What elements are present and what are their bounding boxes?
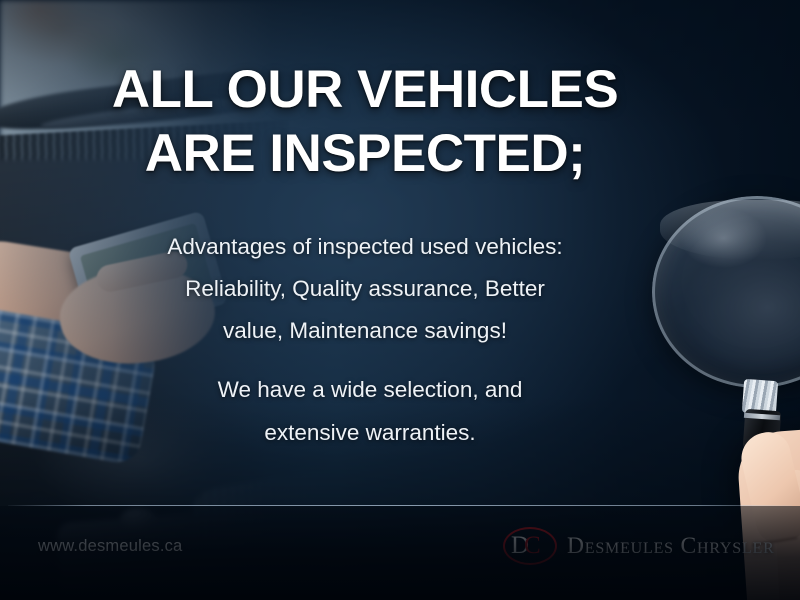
banner-body-paragraph-2: We have a wide selection, and extensive … — [100, 368, 640, 454]
body2-line-1: We have a wide selection, and — [100, 368, 640, 411]
banner-body-paragraph-1: Advantages of inspected used vehicles: R… — [80, 226, 650, 352]
banner-headline: ALL OUR VEHICLES ARE INSPECTED; — [60, 58, 670, 186]
body2-line-2: extensive warranties. — [100, 411, 640, 454]
body-line-3: value, Maintenance savings! — [80, 310, 650, 352]
body-line-2: Reliability, Quality assurance, Better — [80, 268, 650, 310]
banner-content: ALL OUR VEHICLES ARE INSPECTED; Advantag… — [0, 0, 800, 600]
promotional-banner: ALL OUR VEHICLES ARE INSPECTED; Advantag… — [0, 0, 800, 600]
body-line-1: Advantages of inspected used vehicles: — [80, 226, 650, 268]
